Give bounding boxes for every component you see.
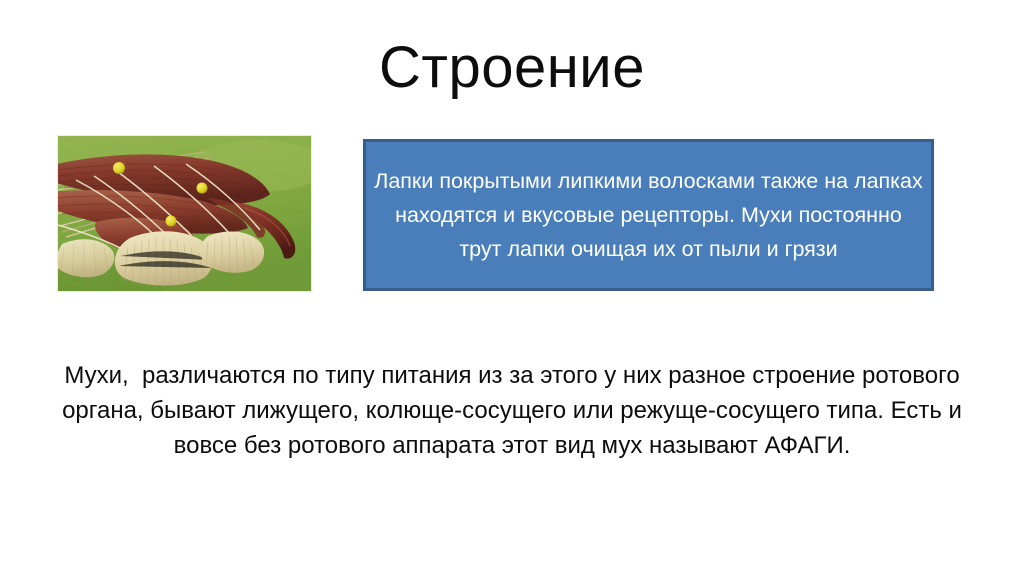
callout-text: Лапки покрытыми липкими волосками также … (366, 164, 931, 266)
presentation-slide: Строение (0, 0, 1024, 574)
body-paragraph: Мухи, различаются по типу питания из за … (62, 358, 962, 463)
page-title: Строение (0, 36, 1024, 100)
fly-tarsus-microscope-photo (58, 136, 311, 291)
info-callout-box: Лапки покрытыми липкими волосками также … (363, 139, 934, 291)
